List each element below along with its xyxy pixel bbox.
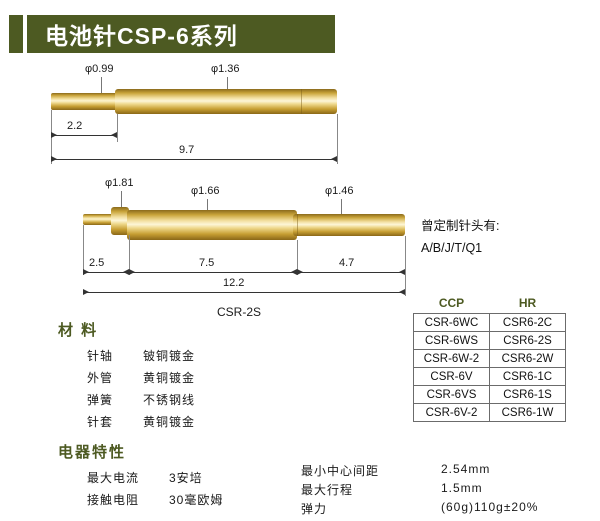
bottom-pin-dim-2-5-label: 2.5 [89,257,104,269]
bottom-pin-barrel-small [293,214,405,236]
top-pin-dim-2-2-arrow-right [111,132,117,138]
custom-note-line-2: A/B/J/T/Q1 [421,241,482,255]
bottom-pin-diameter-2-label: φ1.66 [191,185,220,197]
electrical-left-value-0: 3安培 [169,469,203,486]
table-cell-ccp: CSR-6WC [414,314,490,332]
top-pin-diameter-large-label: φ1.36 [211,63,240,75]
bottom-pin-dim-4-7-line [297,272,405,273]
table-cell-hr: CSR6-2C [490,314,566,332]
top-pin-dim-9-7-arrow-left [51,156,57,162]
table-cell-ccp: CSR-6WS [414,332,490,350]
table-row: CSR-6VS CSR6-1S [414,386,566,404]
bottom-pin-dim-7-5-label: 7.5 [199,257,214,269]
table-header-ccp: CCP [414,295,490,314]
material-value-2: 不锈钢线 [143,391,195,408]
bottom-pin-diameter-1-label: φ1.81 [105,177,134,189]
electrical-right-name-2: 弹力 [301,500,327,517]
bottom-pin-dim-12-2-arrow-right [399,289,405,295]
table-row: CSR-6V-2 CSR6-1W [414,404,566,422]
cross-reference-table: CCP HR CSR-6WC CSR6-2C CSR-6WS CSR6-2S C… [413,295,566,422]
top-pin-shaft [51,93,117,110]
top-pin-dim-2-2-arrow-left [51,132,57,138]
top-pin-barrel [115,89,337,114]
top-pin-dim-2-2-line [51,135,117,136]
table-cell-hr: CSR6-2S [490,332,566,350]
title-bar: 电池针CSP-6系列 [27,15,335,53]
bottom-pin-diameter-3-label: φ1.46 [325,185,354,197]
table-row: CSR-6W-2 CSR6-2W [414,350,566,368]
table-cell-hr: CSR6-1C [490,368,566,386]
material-value-1: 黄铜镀金 [143,369,195,386]
electrical-heading: 电器特性 [58,441,126,462]
top-pin-dim-9-7-label: 9.7 [179,144,194,156]
datasheet-page: 电池针CSP-6系列 φ0.99 φ1.36 2.2 9.7 φ1.81 φ1.… [0,0,600,521]
material-value-0: 铍铜镀金 [143,347,195,364]
material-name-2: 弹簧 [87,391,113,408]
bottom-pin-witness-1 [83,225,84,275]
table-row: CSR-6WS CSR6-2S [414,332,566,350]
bottom-pin-dim-12-2-line [83,292,405,293]
top-pin-diameter-small-label: φ0.99 [85,63,114,75]
material-value-3: 黄铜镀金 [143,413,195,430]
table-cell-ccp: CSR-6VS [414,386,490,404]
bottom-pin-dim-2-5-arrow-left [83,269,89,275]
bottom-pin-dim-4-7-arrow-left [297,269,303,275]
bottom-pin-barrel-large [127,210,297,240]
page-title: 电池针CSP-6系列 [27,17,238,51]
material-name-1: 外管 [87,369,113,386]
materials-heading: 材 料 [58,319,98,340]
bottom-pin-dim-7-5-line [129,272,297,273]
electrical-left-name-1: 接触电阻 [87,491,139,508]
title-accent-block [9,15,23,53]
bottom-pin-inner-line [297,214,298,236]
top-pin-dim-9-7-line [51,159,337,160]
table-row: CSR-6V CSR6-1C [414,368,566,386]
top-pin-dim-9-7-arrow-right [331,156,337,162]
top-pin-witness-2 [117,114,118,142]
table-cell-ccp: CSR-6V [414,368,490,386]
material-name-3: 针套 [87,413,113,430]
bottom-pin-part-label: CSR-2S [217,305,261,319]
custom-note-line-1: 曾定制针头有: [421,215,499,234]
table-header-row: CCP HR [414,295,566,314]
bottom-pin-dim-4-7-label: 4.7 [339,257,354,269]
electrical-left-value-1: 30毫欧姆 [169,491,223,508]
table-cell-ccp: CSR-6W-2 [414,350,490,368]
material-name-0: 针轴 [87,347,113,364]
top-pin-dim-2-2-label: 2.2 [67,120,82,132]
top-pin-witness-3 [337,114,338,164]
bottom-pin-dim-12-2-arrow-left [83,289,89,295]
electrical-right-name-1: 最大行程 [301,481,353,498]
electrical-right-value-2: (60g)110g±20% [441,500,538,514]
bottom-pin-witness-4 [405,236,406,296]
table-cell-hr: CSR6-2W [490,350,566,368]
top-pin-inner-line [301,89,302,114]
electrical-right-name-0: 最小中心间距 [301,462,379,479]
electrical-right-value-0: 2.54mm [441,462,490,476]
electrical-right-value-1: 1.5mm [441,481,483,495]
table-header-hr: HR [490,295,566,314]
table-cell-hr: CSR6-1S [490,386,566,404]
bottom-pin-dim-7-5-arrow-left [129,269,135,275]
electrical-left-name-0: 最大电流 [87,469,139,486]
table-cell-hr: CSR6-1W [490,404,566,422]
table-cell-ccp: CSR-6V-2 [414,404,490,422]
bottom-pin-dim-4-7-arrow-right [399,269,405,275]
table-row: CSR-6WC CSR6-2C [414,314,566,332]
bottom-pin-dim-12-2-label: 12.2 [223,277,244,289]
